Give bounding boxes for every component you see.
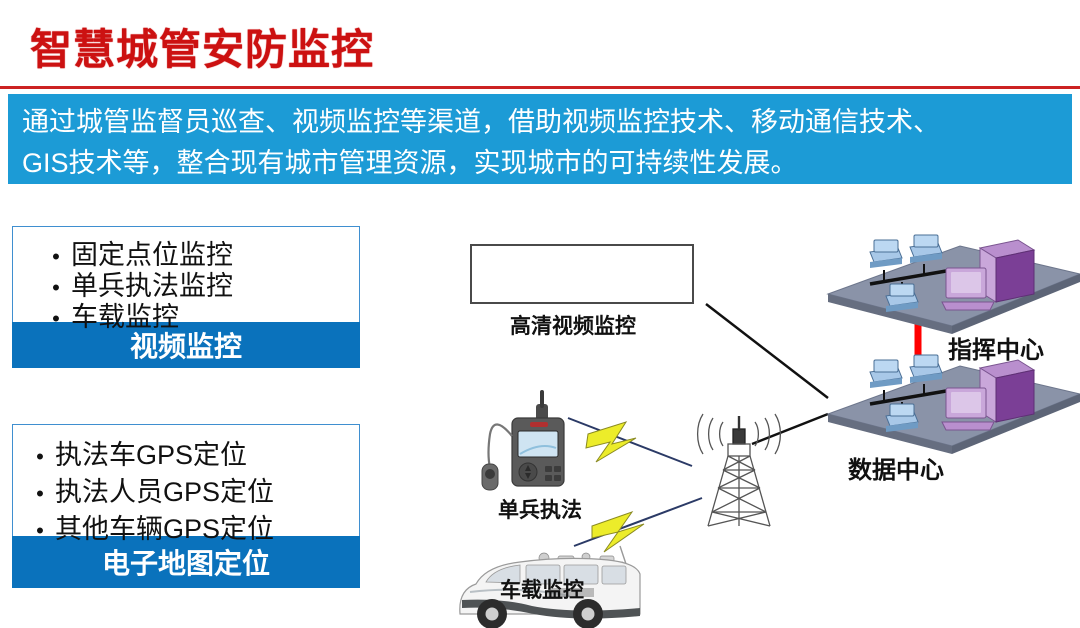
list-item: • 执法人员GPS定位	[25, 470, 359, 507]
link-camera-to-data-center	[706, 304, 828, 398]
bullet-icon: •	[25, 446, 55, 468]
bullet-label: 车载监控	[71, 295, 179, 334]
bullet-icon: •	[25, 520, 55, 542]
bullet-icon: •	[41, 308, 71, 330]
card-gps-mapping[interactable]: • 执法车GPS定位 • 执法人员GPS定位 • 其他车辆GPS定位 电子地图定…	[12, 424, 360, 588]
bullet-label: 执法人员GPS定位	[55, 470, 274, 509]
intro-banner: 通过城管监督员巡查、视频监控等渠道，借助视频监控技术、移动通信技术、 GIS技术…	[8, 94, 1072, 184]
bullet-label: 执法车GPS定位	[55, 433, 247, 472]
card-video-surveillance[interactable]: • 固定点位监控 • 单兵执法监控 • 车载监控 视频监控	[12, 226, 360, 368]
camera-group-frame	[470, 244, 694, 304]
command-center-icon	[828, 235, 1080, 334]
bullet-label: 其他车辆GPS定位	[55, 507, 274, 546]
banner-line-1: 通过城管监督员巡查、视频监控等渠道，借助视频监控技术、移动通信技术、	[22, 102, 1058, 143]
banner-line-2: GIS技术等，整合现有城市管理资源，实现城市的可持续性发展。	[22, 143, 1058, 184]
label-hd-video-surveillance: 高清视频监控	[510, 310, 636, 340]
label-command-center: 指挥中心	[948, 330, 1044, 365]
list-item: • 单兵执法监控	[41, 264, 359, 295]
label-handheld-enforcement: 单兵执法	[498, 494, 582, 524]
label-vehicle-surveillance: 车载监控	[500, 574, 584, 604]
bullet-icon: •	[41, 246, 71, 268]
wireless-bolt-upper-icon	[568, 418, 692, 466]
list-item: • 执法车GPS定位	[25, 433, 359, 470]
bullet-icon: •	[41, 277, 71, 299]
bullet-icon: •	[25, 483, 55, 505]
architecture-diagram: 高清视频监控 单兵执法 车载监控 指挥中心 数据中心	[440, 226, 1080, 628]
list-item: • 固定点位监控	[41, 233, 359, 264]
handheld-terminal-icon	[482, 390, 564, 490]
title-divider	[0, 86, 1080, 89]
data-center-icon	[828, 355, 1080, 454]
label-data-center: 数据中心	[848, 450, 944, 485]
card-gps-body: • 执法车GPS定位 • 执法人员GPS定位 • 其他车辆GPS定位	[12, 424, 360, 536]
page-title: 智慧城管安防监控	[30, 16, 374, 77]
card-video-body: • 固定点位监控 • 单兵执法监控 • 车载监控	[12, 226, 360, 322]
slide-root: 智慧城管安防监控 通过城管监督员巡查、视频监控等渠道，借助视频监控技术、移动通信…	[0, 0, 1080, 628]
transmission-tower-icon	[698, 414, 781, 526]
wireless-bolt-lower-icon	[574, 498, 702, 552]
link-tower-to-data-center	[752, 414, 828, 444]
list-item: • 其他车辆GPS定位	[25, 507, 359, 544]
